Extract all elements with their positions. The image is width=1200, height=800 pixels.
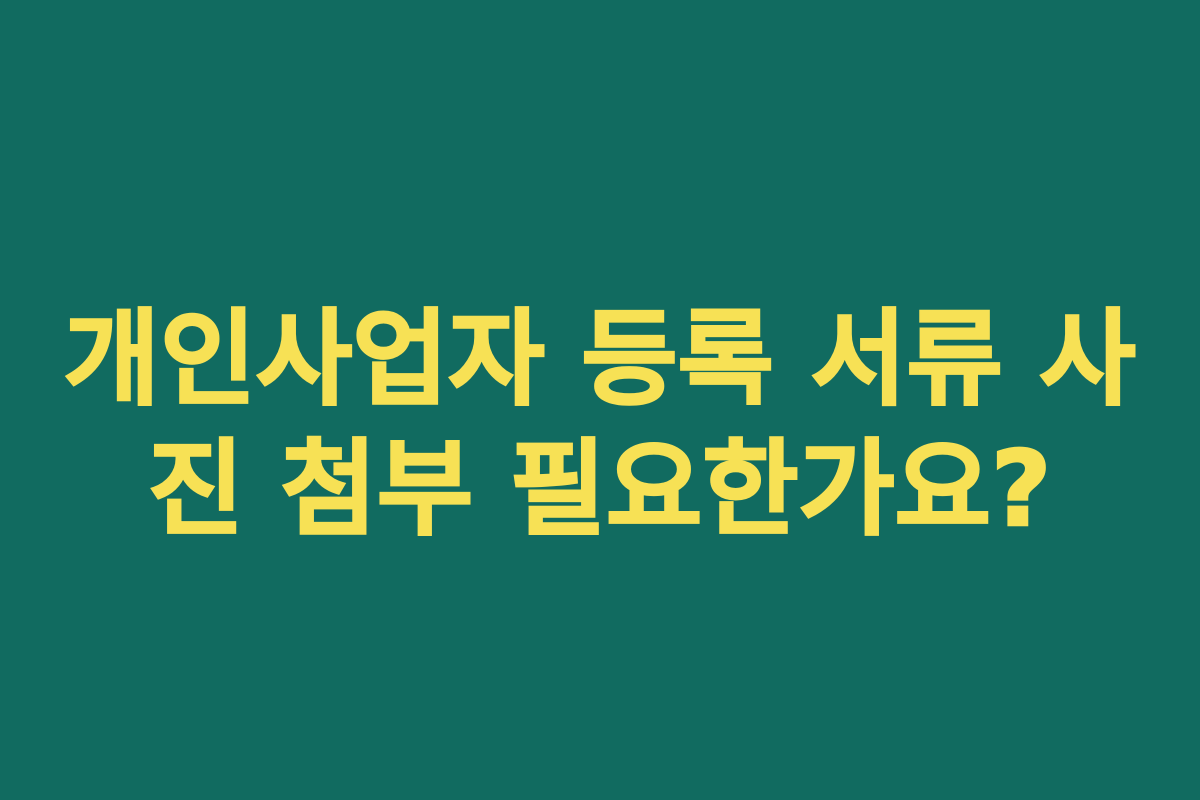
headline-text-block: 개인사업자 등록 서류 사 진 첨부 필요한가요? [54,294,1146,554]
headline-line-2: 진 첨부 필요한가요? [54,424,1146,554]
headline-line-1: 개인사업자 등록 서류 사 [54,294,1146,424]
title-card-canvas: 개인사업자 등록 서류 사 진 첨부 필요한가요? [0,0,1200,800]
